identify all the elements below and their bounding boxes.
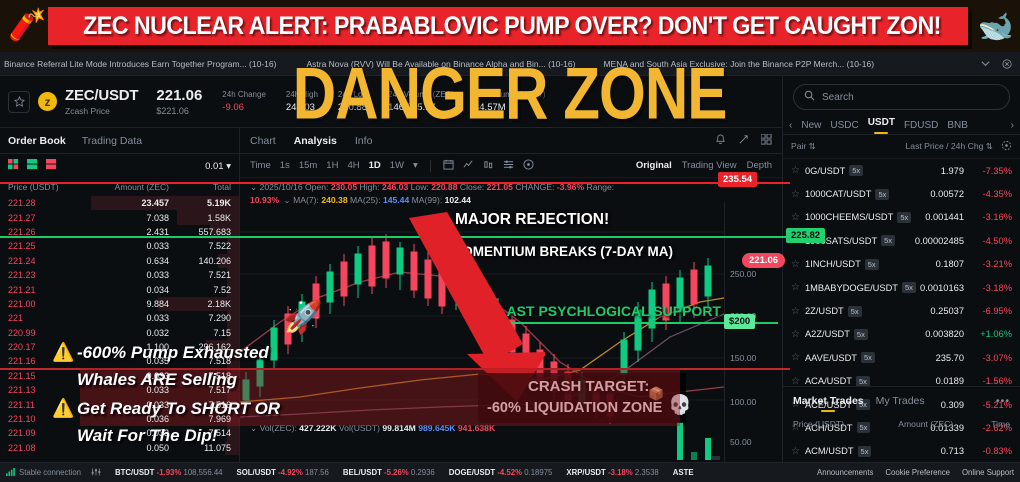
market-last-price: 0.0189 xyxy=(936,376,964,386)
tab-analysis[interactable]: Analysis xyxy=(294,135,337,147)
order-amount: 0.033 xyxy=(70,428,169,438)
tab-order-book[interactable]: Order Book xyxy=(8,135,66,147)
search-placeholder: Search xyxy=(822,92,854,103)
stat-24h-change: 24h Change -9.06 xyxy=(222,90,266,113)
market-pair: ACA/USDT xyxy=(805,376,852,386)
book-both-icon[interactable] xyxy=(8,159,19,173)
tab-chart[interactable]: Chart xyxy=(250,135,276,147)
alert-banner-bg xyxy=(48,7,968,45)
market-change: -4.50% xyxy=(964,236,1012,246)
page-title[interactable]: ZEC/USDT xyxy=(65,87,138,104)
connection-status: Stable connection xyxy=(6,468,81,478)
chevron-right-icon[interactable]: › xyxy=(1011,120,1014,131)
order-total: 7.969 xyxy=(169,414,231,424)
order-book-panel: Order Book Trading Data 0.01 ▾ Price xyxy=(0,128,240,462)
order-amount: 0.036 xyxy=(70,414,169,424)
order-total: 7.290 xyxy=(169,313,231,323)
tf-1d[interactable]: 1D xyxy=(369,160,381,171)
market-change: -6.95% xyxy=(964,306,1012,316)
symbol-subtitle: Zcash Price xyxy=(65,106,138,116)
link-announcements[interactable]: Announcements xyxy=(817,468,873,477)
order-book-row[interactable]: 2210.0337.290 xyxy=(0,311,239,325)
market-pair: 0G/USDT xyxy=(805,166,845,176)
expand-icon[interactable] xyxy=(738,134,749,148)
order-book-row[interactable]: 221.110.0337.516 xyxy=(0,397,239,411)
leverage-badge: 5x xyxy=(848,306,862,317)
order-amount: 1.100 xyxy=(70,342,169,352)
order-amount: 0.032 xyxy=(70,328,169,338)
market-pair: 1000CAT/USDT xyxy=(805,189,871,199)
status-bar: Stable connection BTC/USDT -1.93% 108,55… xyxy=(0,462,1020,482)
ohlc-high: 246.03 xyxy=(382,182,408,192)
stat-24h-volume-zec: 24h Volume (ZEC) 146,905.17 xyxy=(388,90,454,113)
order-price: 221.27 xyxy=(8,213,70,223)
order-book-row[interactable]: 221.210.0347.52 xyxy=(0,282,239,296)
tab-usdt[interactable]: USDT xyxy=(868,117,895,134)
order-price: 221.28 xyxy=(8,198,70,208)
status-more[interactable]: ASTE xyxy=(673,468,694,477)
star-icon[interactable]: ☆ xyxy=(791,259,800,270)
market-last-price: 0.00002485 xyxy=(915,236,964,246)
filter-icon[interactable] xyxy=(1001,140,1012,153)
market-last-price: 0.001441 xyxy=(925,212,964,222)
market-list-row[interactable]: ☆1000CHEEMS/USDT5x0.001441-3.16% xyxy=(783,206,1020,229)
chevron-down-icon[interactable]: ⌄ xyxy=(250,182,257,192)
chart-tabs: Chart Analysis Info xyxy=(240,128,782,154)
star-icon[interactable]: ☆ xyxy=(791,352,800,363)
status-ticker[interactable]: SOL/USDT -4.92% 187.56 xyxy=(237,468,329,477)
zcash-coin-icon: z xyxy=(38,92,57,111)
status-ticker[interactable]: BTC/USDT -1.93% 108,556.44 xyxy=(115,468,223,477)
order-book-row[interactable]: 221.277.0381.58K xyxy=(0,210,239,224)
vol-extra-2: 941.638K xyxy=(458,423,495,433)
tab-new[interactable]: New xyxy=(801,120,821,131)
market-list-row[interactable]: ☆0G/USDT5x1.979-7.35% xyxy=(783,159,1020,182)
market-pair: 1INCH/USDT xyxy=(805,259,861,269)
timeframe-bar: Time 1s 15m 1H 4H 1D 1W ▾ xyxy=(240,154,782,178)
book-bids-icon[interactable] xyxy=(27,159,38,173)
leverage-badge: 5x xyxy=(854,329,868,340)
star-icon[interactable]: ☆ xyxy=(791,165,800,176)
chevron-down-icon[interactable]: ▾ xyxy=(413,160,418,171)
candlestick-icon[interactable] xyxy=(483,159,494,173)
market-last-price: 0.0010163 xyxy=(920,283,964,293)
order-total: 7.517 xyxy=(169,385,231,395)
market-change: -3.07% xyxy=(964,353,1012,363)
vol-zec: 427.222K xyxy=(299,423,336,433)
market-list-row[interactable]: ☆AAVE/USDT5x235.70-3.07% xyxy=(783,346,1020,369)
status-ticker[interactable]: BEL/USDT -5.26% 0.2936 xyxy=(343,468,435,477)
leverage-badge: 5x xyxy=(875,189,889,200)
close-circle-icon[interactable] xyxy=(1002,59,1012,69)
order-price: 220.99 xyxy=(8,328,70,338)
order-amount: 0.634 xyxy=(70,256,169,266)
bell-icon[interactable] xyxy=(715,134,726,148)
announcement-item[interactable]: MENA and South Asia Exclusive: Join the … xyxy=(603,59,874,69)
tf-1h[interactable]: 1H xyxy=(326,160,338,171)
leverage-badge: 5x xyxy=(849,165,863,176)
order-book-row[interactable]: 221.100.0367.969 xyxy=(0,412,239,426)
order-amount: 0.033 xyxy=(70,241,169,251)
last-price: 221.06 xyxy=(156,87,202,104)
order-book-controls: 0.01 ▾ xyxy=(0,154,239,178)
market-pair: AAVE/USDT xyxy=(805,353,857,363)
order-price: 221.24 xyxy=(8,256,70,266)
order-price: 221.16 xyxy=(8,356,70,366)
order-book-columns: Price (USDT) Amount (ZEC) Total xyxy=(0,178,239,196)
bomb-icon: 🧨 xyxy=(8,6,47,43)
market-change: -0.83% xyxy=(964,446,1012,456)
market-list-row[interactable]: ☆A2Z/USDT5x0.003820+1.06% xyxy=(783,323,1020,346)
order-price: 221.11 xyxy=(8,400,70,410)
tab-bnb[interactable]: BNB xyxy=(947,120,968,131)
calendar-icon[interactable] xyxy=(443,159,454,173)
order-price: 221.10 xyxy=(8,414,70,424)
signal-icon xyxy=(6,468,15,478)
chart-plot: ⌄ Vol(ZEC): 427.222K Vol(USDT) 99.814M 9… xyxy=(240,202,782,462)
col-pair[interactable]: Pair ⇅ xyxy=(791,141,906,152)
stat-24h-volume-usdt: 24h Volume (USDT) 34.57M xyxy=(474,90,546,113)
ohlc-open: 230.05 xyxy=(331,182,357,192)
chart-panel: Chart Analysis Info Time 1s 15m 1H 4H 1D xyxy=(240,128,782,462)
order-total: 7.518 xyxy=(169,371,231,381)
tf-1s[interactable]: 1s xyxy=(280,160,290,171)
trading-app: Binance Referral Lite Mode Introduces Ea… xyxy=(0,0,1020,482)
market-change: -3.18% xyxy=(964,283,1012,293)
market-change: +1.06% xyxy=(964,329,1012,339)
order-price: 221.09 xyxy=(8,428,70,438)
order-price: 221.15 xyxy=(8,371,70,381)
link-cookie-preference[interactable]: Cookie Preference xyxy=(885,468,950,477)
divider xyxy=(430,160,431,172)
market-last-price: 0.1807 xyxy=(936,259,964,269)
grid-icon[interactable] xyxy=(761,134,772,148)
star-icon[interactable]: ☆ xyxy=(791,306,800,317)
market-list-row[interactable]: ☆1INCH/USDT5x0.1807-3.21% xyxy=(783,253,1020,276)
order-price: 221.23 xyxy=(8,270,70,280)
order-amount: 0.050 xyxy=(70,443,169,453)
status-ticker[interactable]: XRP/USDT -3.18% 2.3538 xyxy=(566,468,658,477)
leverage-badge: 5x xyxy=(881,235,895,246)
source-original[interactable]: Original xyxy=(636,160,672,171)
order-amount: 23.457 xyxy=(70,198,169,208)
order-total: 5.19K xyxy=(169,198,231,208)
order-price: 220.17 xyxy=(8,342,70,352)
decimals-select[interactable]: 0.01 ▾ xyxy=(205,161,231,172)
order-amount: 0.034 xyxy=(70,285,169,295)
market-list-row[interactable]: ☆1000CAT/USDT5x0.00572-4.35% xyxy=(783,182,1020,205)
order-total: 11.075 xyxy=(169,443,231,453)
order-price: 221.21 xyxy=(8,285,70,295)
market-change: -3.16% xyxy=(964,212,1012,222)
order-book-row[interactable]: 221.2823.4575.19K xyxy=(0,196,239,210)
order-book-row[interactable]: 221.150.0337.518 xyxy=(0,369,239,383)
market-list-row[interactable]: ☆1000SATS/USDT5x0.00002485-4.50% xyxy=(783,229,1020,252)
tf-15m[interactable]: 15m xyxy=(299,160,317,171)
search-input[interactable]: Search xyxy=(793,84,1010,110)
stat-24h-low: 24h Low 220.88 xyxy=(338,90,368,113)
order-total: 7.514 xyxy=(169,428,231,438)
chevron-down-icon: ▾ xyxy=(226,161,231,172)
link-online-support[interactable]: Online Support xyxy=(962,468,1014,477)
order-price: 221.26 xyxy=(8,227,70,237)
order-book-row[interactable]: 221.090.0337.514 xyxy=(0,426,239,440)
leverage-badge: 5x xyxy=(865,259,879,270)
fullscreen-icon[interactable] xyxy=(523,159,534,173)
star-icon[interactable]: ☆ xyxy=(791,446,800,457)
tab-trading-data[interactable]: Trading Data xyxy=(82,135,142,147)
ohlc-date: 2025/10/16 xyxy=(260,182,303,192)
market-list-row[interactable]: ☆1MBABYDOGE/USDT5x0.0010163-3.18% xyxy=(783,276,1020,299)
indicator-icon[interactable] xyxy=(463,159,474,173)
market-last-price: 0.00572 xyxy=(930,189,964,199)
announcement-bar: Binance Referral Lite Mode Introduces Ea… xyxy=(0,52,1020,76)
order-book-row[interactable]: 221.230.0337.521 xyxy=(0,268,239,282)
market-change: -3.21% xyxy=(964,259,1012,269)
order-amount: 0.033 xyxy=(70,313,169,323)
leverage-badge: 5x xyxy=(902,282,916,293)
order-total: 7.15 xyxy=(169,328,231,338)
star-icon[interactable] xyxy=(8,91,30,113)
market-last-price: 0.003820 xyxy=(925,329,964,339)
order-price: 221.25 xyxy=(8,241,70,251)
order-total: 296.162 xyxy=(169,342,231,352)
settings-bars-icon[interactable] xyxy=(503,159,514,173)
star-icon[interactable]: ☆ xyxy=(791,235,800,246)
status-ticker[interactable]: DOGE/USDT -4.52% 0.18975 xyxy=(449,468,553,477)
announcement-item[interactable]: Binance Referral Lite Mode Introduces Ea… xyxy=(4,59,276,69)
tab-usdc[interactable]: USDC xyxy=(830,120,858,131)
market-list-row[interactable]: ☆2Z/USDT5x0.25037-6.95% xyxy=(783,299,1020,322)
order-amount: 0.035 xyxy=(70,356,169,366)
tf-time[interactable]: Time xyxy=(250,160,271,171)
star-icon[interactable]: ☆ xyxy=(791,189,800,200)
order-total: 2.18K xyxy=(169,299,231,309)
star-icon[interactable]: ☆ xyxy=(791,329,800,340)
order-book-row[interactable]: 220.990.0327.15 xyxy=(0,326,239,340)
order-amount: 0.033 xyxy=(70,400,169,410)
market-change: -1.56% xyxy=(964,376,1012,386)
order-book-ask-rows: 221.2823.4575.19K221.277.0381.58K221.262… xyxy=(0,196,239,455)
tf-1w[interactable]: 1W xyxy=(390,160,404,171)
whale-icon: 🐋 xyxy=(978,10,1014,44)
order-book-row[interactable]: 221.080.05011.075 xyxy=(0,441,239,455)
market-change: -4.35% xyxy=(964,189,1012,199)
order-amount: 0.033 xyxy=(70,270,169,280)
chevron-left-icon[interactable]: ‹ xyxy=(789,120,792,131)
order-price: 221 xyxy=(8,313,70,323)
order-book-tabs: Order Book Trading Data xyxy=(0,128,239,154)
leverage-badge: 5x xyxy=(858,446,872,457)
sliders-icon[interactable] xyxy=(91,467,101,479)
order-total: 557.683 xyxy=(169,227,231,237)
market-pair: 2Z/USDT xyxy=(805,306,844,316)
col-price-change[interactable]: Last Price / 24h Chg ⇅ xyxy=(906,141,993,152)
order-price: 221.13 xyxy=(8,385,70,395)
order-book-row[interactable]: 220.171.100296.162 xyxy=(0,340,239,354)
more-dots-icon[interactable]: ••• xyxy=(996,395,1010,412)
chart-volume-row: ⌄ Vol(ZEC): 427.222K Vol(USDT) 99.814M 9… xyxy=(250,423,495,434)
order-total: 7.522 xyxy=(169,241,231,251)
tab-info[interactable]: Info xyxy=(355,135,373,147)
order-total: 7.518 xyxy=(169,356,231,366)
vol-usdt: 99.814M xyxy=(382,423,415,433)
order-amount: 0.033 xyxy=(70,385,169,395)
book-asks-icon[interactable] xyxy=(46,159,57,173)
vol-extra-1: 989.645K xyxy=(418,423,455,433)
ohlc-close: 221.05 xyxy=(487,182,513,192)
market-sidebar: Search ‹ New USDC USDT FDUSD BNB › Pair … xyxy=(782,76,1020,462)
order-total: 140.206 xyxy=(169,256,231,266)
order-price: 221.08 xyxy=(8,443,70,453)
order-amount: 9.884 xyxy=(70,299,169,309)
quote-asset-tabs: ‹ New USDC USDT FDUSD BNB › xyxy=(783,110,1020,134)
order-amount: 7.038 xyxy=(70,213,169,223)
tab-fdusd[interactable]: FDUSD xyxy=(904,120,938,131)
order-book-row[interactable]: 221.240.634140.206 xyxy=(0,254,239,268)
market-pair: 1000SATS/USDT xyxy=(805,236,877,246)
tab-market-trades[interactable]: Market Trades xyxy=(793,395,864,412)
market-pair: 1MBABYDOGE/USDT xyxy=(805,283,898,293)
announcement-item[interactable]: Astra Nova (RVV) Will Be Available on Bi… xyxy=(306,59,575,69)
order-book-row[interactable]: 221.262.431557.683 xyxy=(0,225,239,239)
ohlc-low: 220.88 xyxy=(431,182,457,192)
market-pair: ACM/USDT xyxy=(805,446,854,456)
leverage-badge: 5x xyxy=(897,212,911,223)
market-table-header: Pair ⇅ Last Price / 24h Chg ⇅ xyxy=(783,134,1020,159)
leverage-badge: 5x xyxy=(861,352,875,363)
order-book-row[interactable]: 221.130.0337.517 xyxy=(0,383,239,397)
last-price-fiat: $221.06 xyxy=(156,106,202,116)
ohlc-change: -3.96% xyxy=(557,182,584,192)
order-total: 7.521 xyxy=(169,270,231,280)
order-amount: 0.033 xyxy=(70,371,169,381)
alert-banner-text: ZEC NUCLEAR ALERT: PRABABLOVIC PUMP OVER… xyxy=(94,9,931,43)
market-pair: 1000CHEEMS/USDT xyxy=(805,212,893,222)
market-last-price: 0.25037 xyxy=(930,306,964,316)
star-icon[interactable]: ☆ xyxy=(791,212,800,223)
market-last-price: 235.70 xyxy=(936,353,964,363)
market-pair: A2Z/USDT xyxy=(805,329,850,339)
alert-banner: 🧨 ZEC NUCLEAR ALERT: PRABABLOVIC PUMP OV… xyxy=(0,0,1020,52)
chart-price-axis: 250.00 200.00 150.00 100.00 50.00 2M xyxy=(724,202,782,462)
market-list-row[interactable]: ☆ACM/USDT5x0.713-0.83% xyxy=(783,440,1020,463)
chevron-down-icon[interactable]: ⌄ xyxy=(250,423,257,433)
stat-24h-high: 24h High 246.03 xyxy=(286,90,318,113)
tf-4h[interactable]: 4H xyxy=(347,160,359,171)
chevron-down-icon[interactable] xyxy=(981,59,990,68)
source-depth[interactable]: Depth xyxy=(747,160,772,171)
market-last-price: 0.713 xyxy=(941,446,964,456)
order-total: 1.58K xyxy=(169,213,231,223)
order-price: 221.00 xyxy=(8,299,70,309)
star-icon[interactable]: ☆ xyxy=(791,282,800,293)
tab-my-trades[interactable]: My Trades xyxy=(876,395,925,412)
market-last-price: 1.979 xyxy=(941,166,964,176)
market-change: -7.35% xyxy=(964,166,1012,176)
order-total: 7.52 xyxy=(169,285,231,295)
order-total: 7.516 xyxy=(169,400,231,410)
trades-panel-header: Market Trades My Trades ••• Price (USDT)… xyxy=(783,386,1020,430)
order-amount: 2.431 xyxy=(70,227,169,237)
order-book-row[interactable]: 221.160.0357.518 xyxy=(0,354,239,368)
order-book-row[interactable]: 221.250.0337.522 xyxy=(0,239,239,253)
order-book-row[interactable]: 221.009.8842.18K xyxy=(0,297,239,311)
search-icon xyxy=(804,90,815,104)
source-tradingview[interactable]: Trading View xyxy=(682,160,737,171)
symbol-header: z ZEC/USDT Zcash Price 221.06 $221.06 24… xyxy=(0,76,782,128)
